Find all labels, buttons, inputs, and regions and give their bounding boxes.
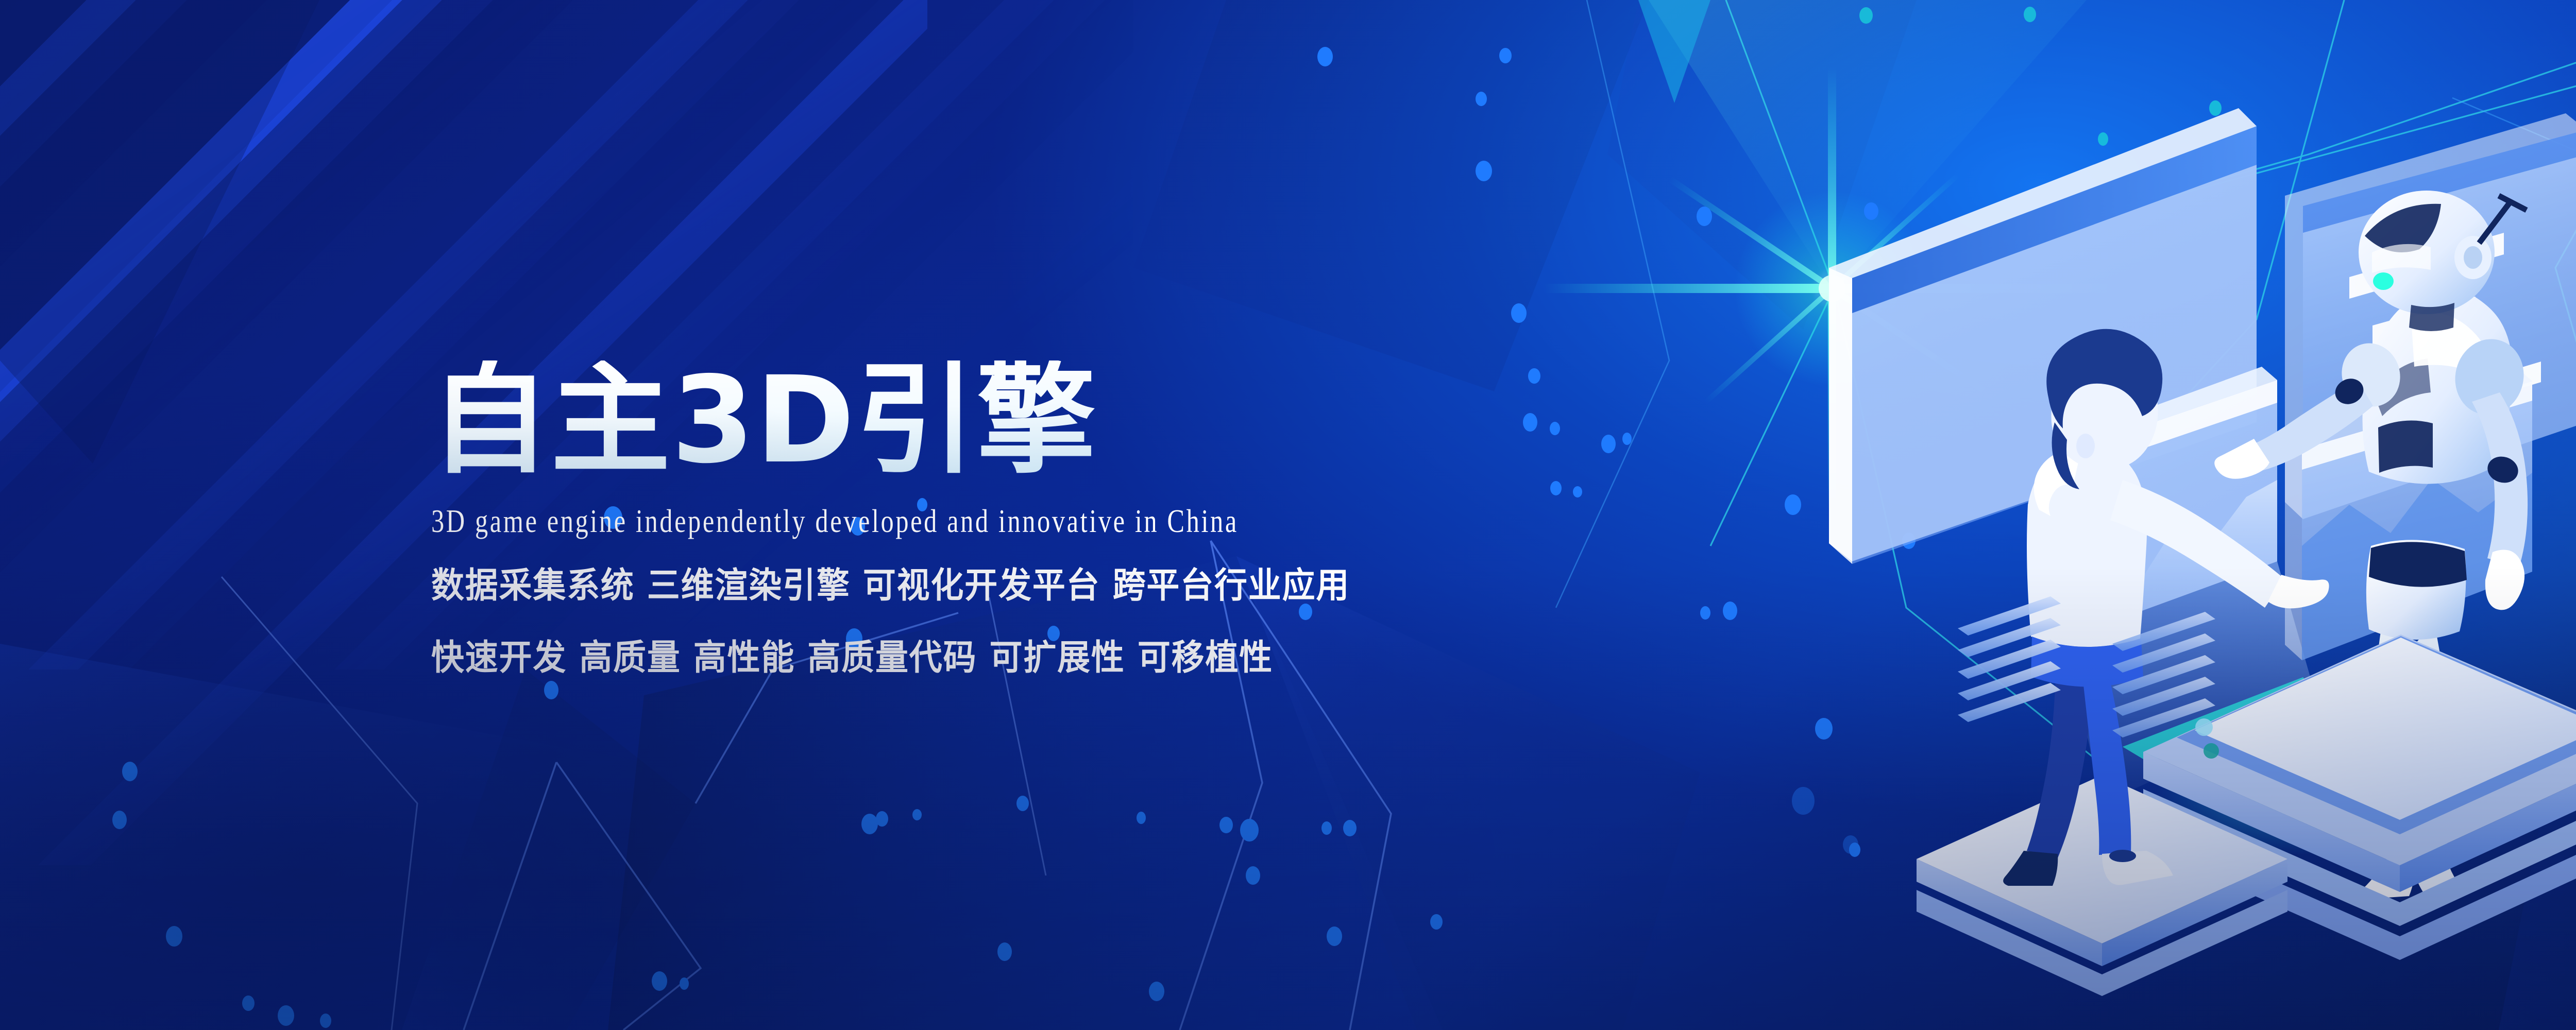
page-title: 自主3D引擎 <box>430 360 1821 480</box>
keywords-line-1: 数据采集系统 三维渲染引擎 可视化开发平台 跨平台行业应用 <box>431 566 1738 606</box>
keywords-line-2: 快速开发 高质量 高性能 高质量代码 可扩展性 可移植性 <box>431 638 1738 678</box>
headline-block: 自主3D引擎 3D game engine independently deve… <box>430 360 1821 679</box>
subtitle-english: 3D game engine independently developed a… <box>431 504 1543 539</box>
banner-root: 自主3D引擎 3D game engine independently deve… <box>0 0 2576 1030</box>
illustration-isometric-scene <box>1741 31 2576 1009</box>
